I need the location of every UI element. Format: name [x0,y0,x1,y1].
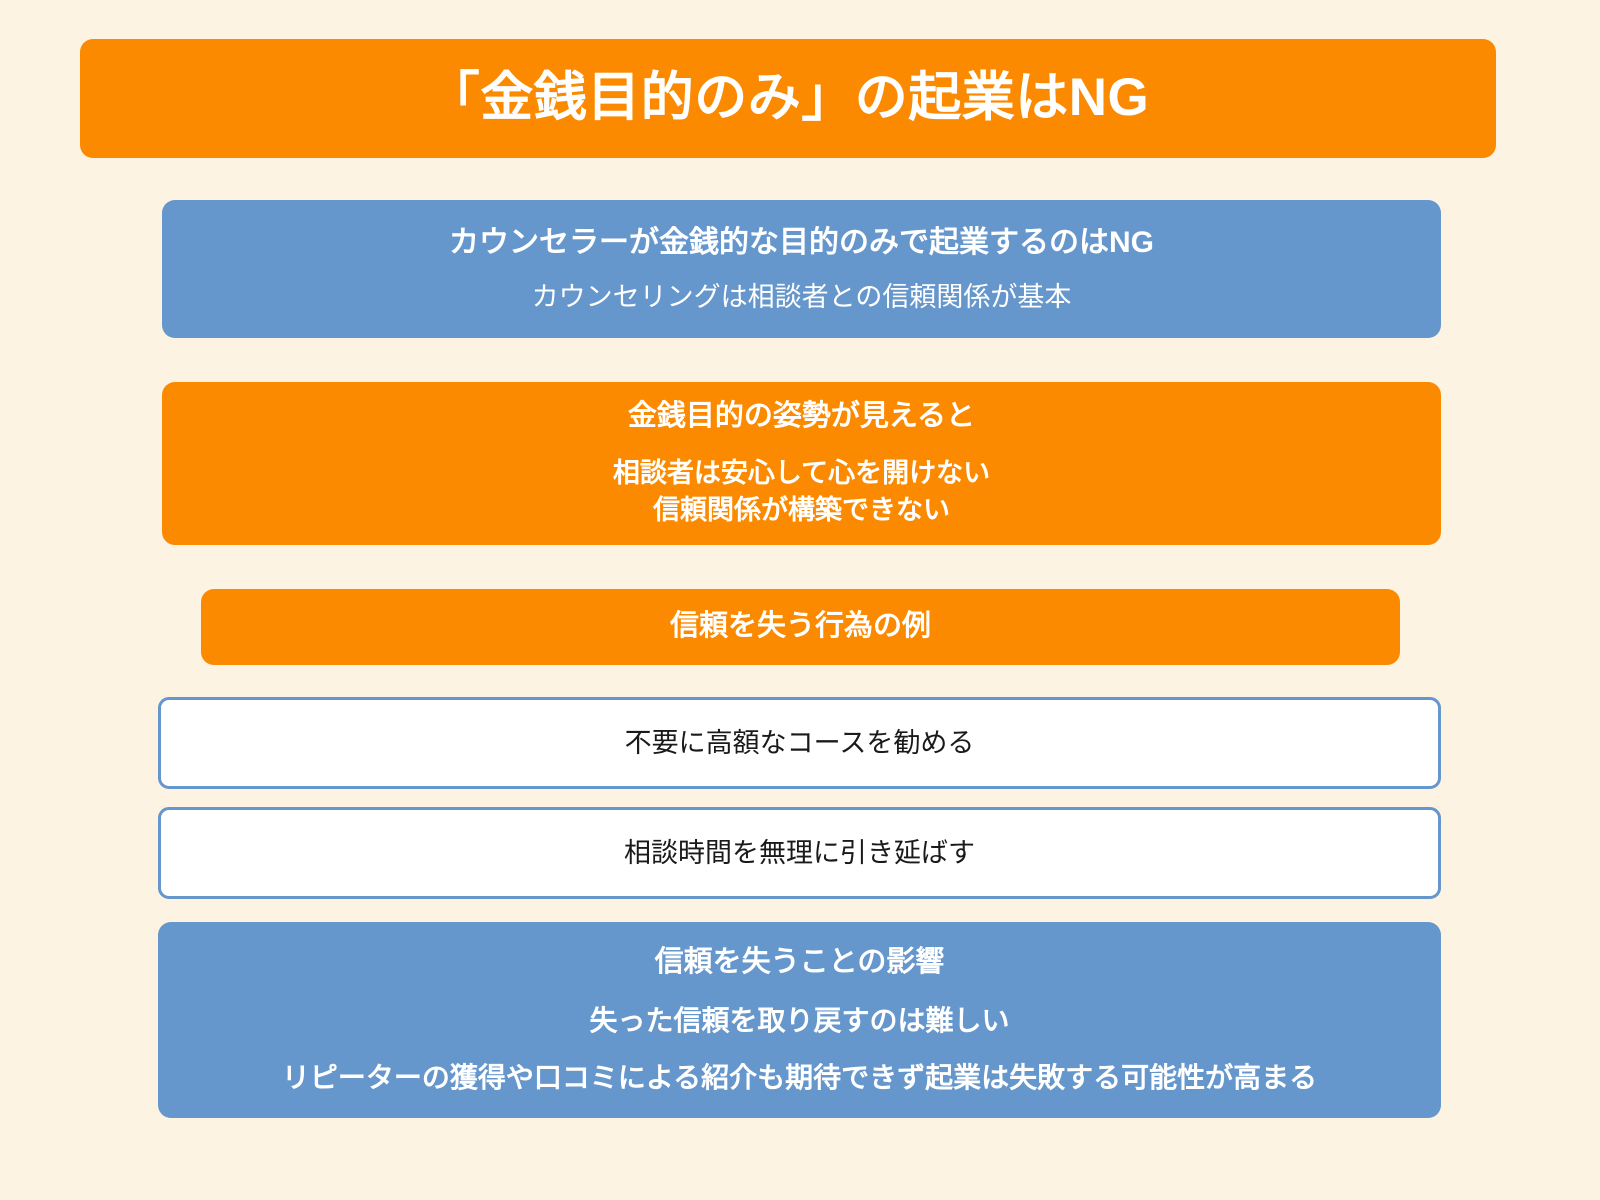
infographic-canvas: 「金銭目的のみ」の起業はNG カウンセラーが金銭的な目的のみで起業するのはNG … [0,0,1600,1200]
section-label-panel: 信頼を失う行為の例 [201,589,1400,665]
example-item-1-label: 不要に高額なコースを勧める [625,727,975,759]
intro-panel: カウンセラーが金銭的な目的のみで起業するのはNG カウンセリングは相談者との信頼… [162,200,1441,338]
impact-line-1: 失った信頼を取り戻すのは難しい [589,1004,1009,1038]
intro-heading: カウンセラーが金銭的な目的のみで起業するのはNG [449,225,1154,261]
example-item-2-label: 相談時間を無理に引き延ばす [624,837,975,869]
consequence-lines: 相談者は安心して心を開けない 信頼関係が構築できない [613,455,990,528]
consequence-line-2: 信頼関係が構築できない [613,492,990,528]
intro-subtext: カウンセリングは相談者との信頼関係が基本 [532,281,1072,313]
consequence-heading: 金銭目的の姿勢が見えると [628,399,975,434]
example-item-2: 相談時間を無理に引き延ばす [158,807,1441,899]
page-title: 「金銭目的のみ」の起業はNG [427,69,1150,127]
example-item-1: 不要に高額なコースを勧める [158,697,1441,789]
impact-panel: 信頼を失うことの影響 失った信頼を取り戻すのは難しい リピーターの獲得や口コミに… [158,922,1441,1118]
title-banner: 「金銭目的のみ」の起業はNG [80,39,1496,158]
impact-line-2: リピーターの獲得や口コミによる紹介も期待できず起業は失敗する可能性が高まる [282,1061,1317,1095]
impact-heading: 信頼を失うことの影響 [655,945,945,980]
consequence-line-1: 相談者は安心して心を開けない [613,455,990,491]
consequence-panel: 金銭目的の姿勢が見えると 相談者は安心して心を開けない 信頼関係が構築できない [162,382,1441,545]
section-label-heading: 信頼を失う行為の例 [670,611,931,643]
